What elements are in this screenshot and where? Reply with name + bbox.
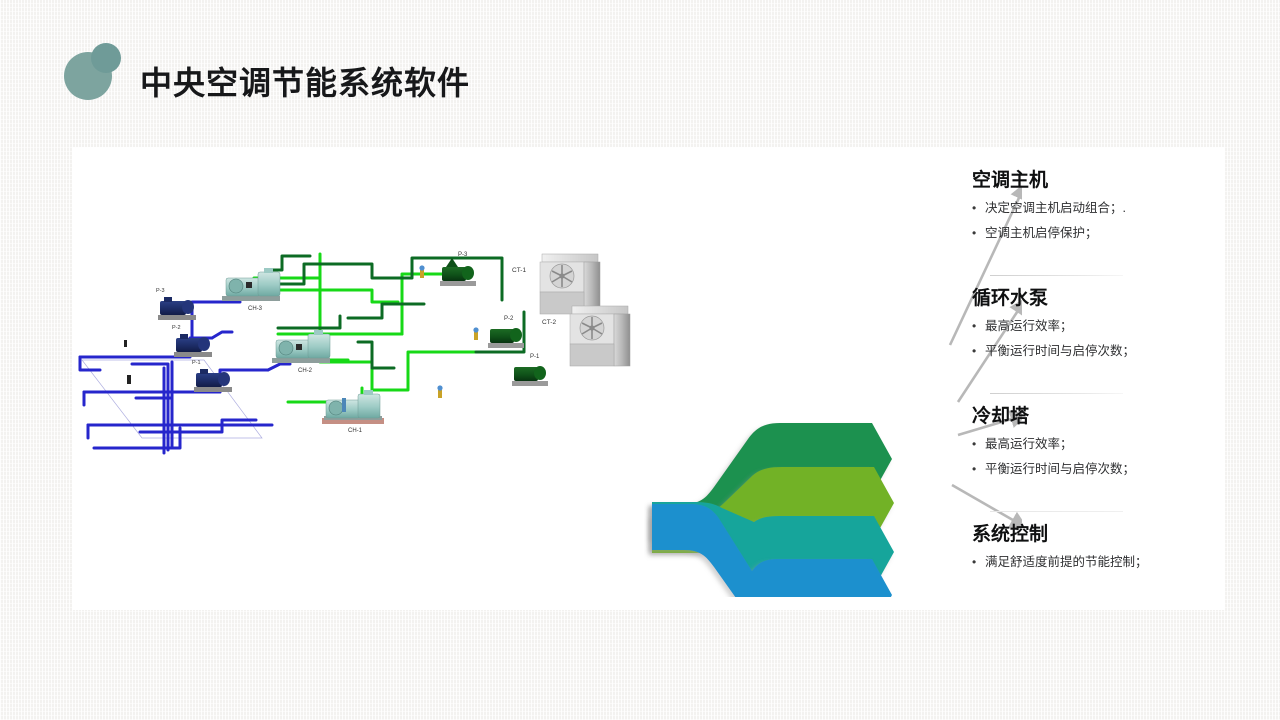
group-cooling-tower: 冷却塔 • 最高运行效率； • 平衡运行时间与启停次数； xyxy=(972,401,1222,478)
group-system-control: 系统控制 • 满足舒适度前提的节能控制； xyxy=(972,519,1222,571)
bullet-text: 平衡运行时间与启停次数； xyxy=(985,343,1135,360)
section-divider xyxy=(990,275,1123,276)
bullet-text: 最高运行效率； xyxy=(985,318,1073,335)
group-title-system-control: 系统控制 xyxy=(972,519,1222,546)
svg-text:P-3: P-3 xyxy=(458,252,468,258)
group-title-pump: 循环水泵 xyxy=(972,283,1222,310)
bullet-item: • 平衡运行时间与启停次数； xyxy=(972,461,1222,478)
section-divider xyxy=(990,511,1123,512)
bullet-dot-icon: • xyxy=(972,343,985,360)
svg-text:CT-1: CT-1 xyxy=(512,267,526,274)
bullet-item: • 决定空调主机启动组合；. xyxy=(972,200,1222,217)
bullet-dot-icon: • xyxy=(972,461,985,478)
section-divider xyxy=(990,393,1123,394)
hvac-schematic: P-3 P-2 P-1 xyxy=(72,242,632,572)
bullet-item: • 满足舒适度前提的节能控制； xyxy=(972,554,1222,571)
group-pump: 循环水泵 • 最高运行效率； • 平衡运行时间与启停次数； xyxy=(972,283,1222,360)
bullet-text: 空调主机启停保护； xyxy=(985,225,1098,242)
group-chiller: 空调主机 • 决定空调主机启动组合；. • 空调主机启停保护； xyxy=(972,165,1222,242)
group-title-cooling-tower: 冷却塔 xyxy=(972,401,1222,428)
bullet-item: • 平衡运行时间与启停次数； xyxy=(972,343,1222,360)
group-title-chiller: 空调主机 xyxy=(972,165,1222,192)
page-title: 中央空调节能系统软件 xyxy=(140,58,470,104)
svg-text:CH-1: CH-1 xyxy=(348,428,363,434)
bullet-dot-icon: • xyxy=(972,436,985,453)
svg-text:P-2: P-2 xyxy=(172,325,181,331)
brand-logo xyxy=(64,43,126,105)
slide-header: 中央空调节能系统软件 xyxy=(0,0,1280,140)
bullet-item: • 空调主机启停保护； xyxy=(972,225,1222,242)
bullet-text: 满足舒适度前提的节能控制； xyxy=(985,554,1148,571)
svg-text:P-1: P-1 xyxy=(530,354,540,360)
bullet-dot-icon: • xyxy=(972,225,985,242)
bullet-text: 决定空调主机启动组合；. xyxy=(985,200,1126,217)
bullet-dot-icon: • xyxy=(972,318,985,335)
svg-text:CT-2: CT-2 xyxy=(542,319,556,326)
svg-text:CH-3: CH-3 xyxy=(248,306,263,312)
bullet-text: 最高运行效率； xyxy=(985,436,1073,453)
svg-text:P-1: P-1 xyxy=(192,360,201,366)
bullet-dot-icon: • xyxy=(972,200,985,217)
ribbon-funnel-diagram xyxy=(572,247,912,597)
logo-circle-small xyxy=(91,43,121,73)
bullet-item: • 最高运行效率； xyxy=(972,318,1222,335)
content-panel: P-3 P-2 P-1 xyxy=(72,147,1225,610)
svg-text:CH-2: CH-2 xyxy=(298,368,313,374)
bullet-item: • 最高运行效率； xyxy=(972,436,1222,453)
svg-text:P-2: P-2 xyxy=(504,316,514,322)
svg-text:P-3: P-3 xyxy=(156,288,165,294)
bullet-text: 平衡运行时间与启停次数； xyxy=(985,461,1135,478)
bullet-dot-icon: • xyxy=(972,554,985,571)
